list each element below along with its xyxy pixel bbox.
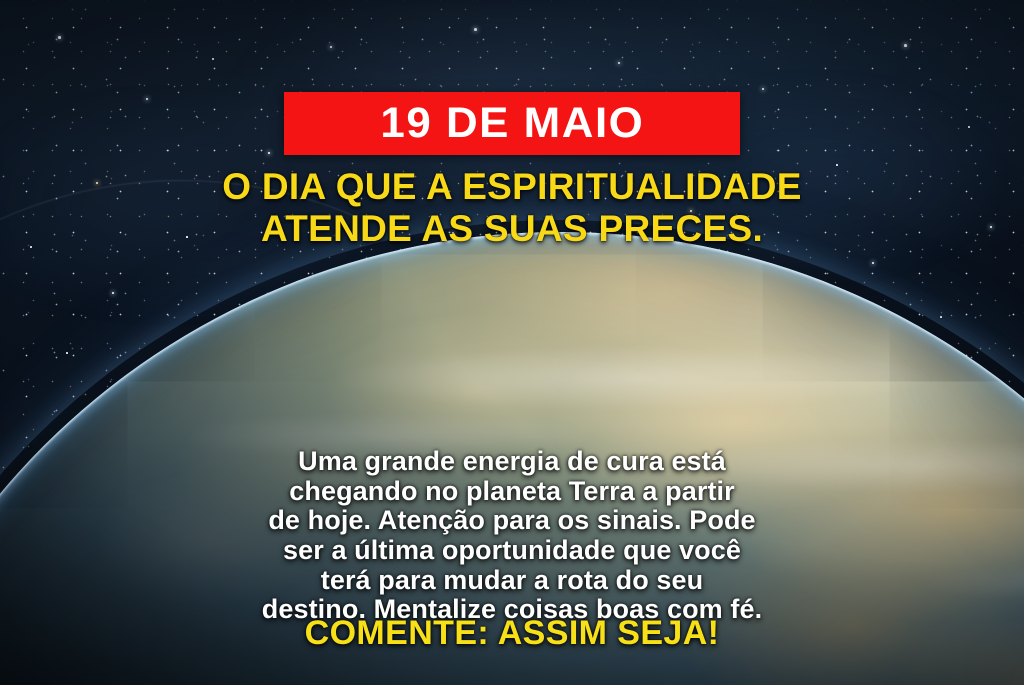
date-banner: 19 DE MAIO [284, 92, 740, 155]
poster-content: 19 DE MAIO O DIA QUE A ESPIRITUALIDADE A… [0, 0, 1024, 685]
poster-canvas: 19 DE MAIO O DIA QUE A ESPIRITUALIDADE A… [0, 0, 1024, 685]
call-to-action-text: COMENTE: ASSIM SEJA! [0, 616, 1024, 650]
date-banner-label: 19 DE MAIO [380, 102, 644, 145]
headline-text: O DIA QUE A ESPIRITUALIDADE ATENDE AS SU… [0, 166, 1024, 250]
body-paragraph: Uma grande energia de cura está chegando… [0, 447, 1024, 625]
